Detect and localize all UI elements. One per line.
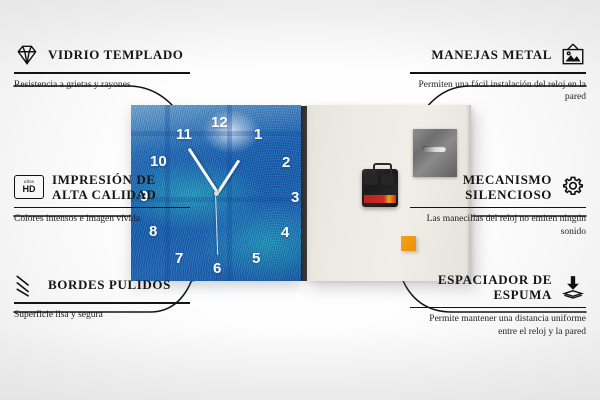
diamond-icon: [14, 42, 40, 68]
mechanism-label-strip: [364, 195, 396, 203]
feature-desc: Colores intensos e imagen vívida: [14, 213, 190, 226]
divider: [410, 207, 586, 209]
gear-icon: [560, 174, 586, 200]
feature-desc: Permiten una fácil instalación del reloj…: [410, 79, 586, 105]
clock-numeral-12: 12: [211, 115, 228, 130]
feature-title: IMPRESIÓN DE ALTA CALIDAD: [52, 172, 190, 203]
divider: [14, 72, 190, 74]
divider: [410, 72, 586, 74]
metal-hanger-plate: [413, 129, 457, 177]
feature-mecanismo-silencioso: MECANISMO SILENCIOSO Las manecillas del …: [410, 172, 586, 239]
clock-numeral-2: 2: [282, 155, 290, 170]
divider: [410, 307, 586, 309]
feature-manejas-metal: MANEJAS METAL Permiten una fácil instala…: [410, 42, 586, 104]
clock-numeral-10: 10: [150, 154, 167, 169]
divider: [14, 207, 190, 209]
clock-numeral-6: 6: [213, 261, 221, 276]
divider: [14, 302, 190, 304]
mechanism-loop: [373, 163, 392, 174]
clock-numeral-7: 7: [175, 251, 183, 266]
feature-desc: Resistencia a grietas y rayones: [14, 79, 190, 92]
feature-title: BORDES PULIDOS: [48, 277, 190, 292]
ultra-hd-icon: ultra HD: [14, 175, 44, 199]
diagonal-lines-icon: [14, 272, 40, 298]
ultra-hd-icon-large-label: HD: [23, 185, 36, 194]
clock-center-pin: [214, 191, 219, 196]
mechanism-detail-right: [381, 174, 394, 185]
feature-desc: Permite mantener una distancia uniforme …: [410, 313, 586, 339]
clock-numeral-1: 1: [254, 127, 262, 142]
picture-frame-icon: [560, 42, 586, 68]
clock-numeral-11: 11: [176, 127, 192, 142]
infographic-canvas: 12 1 2 3 4 5 6 7 8 9 10 11: [0, 0, 600, 400]
artwork-grid-h1: [131, 131, 301, 136]
clock-numeral-8: 8: [149, 224, 157, 239]
clock-mechanism: [362, 169, 398, 207]
feature-impresion-alta-calidad: ultra HD IMPRESIÓN DE ALTA CALIDAD Color…: [14, 172, 190, 226]
feature-title: MECANISMO SILENCIOSO: [410, 172, 552, 203]
clock-numeral-4: 4: [281, 225, 289, 240]
feature-title: MANEJAS METAL: [410, 47, 552, 62]
feature-bordes-pulidos: BORDES PULIDOS Superficie lisa y segura: [14, 272, 190, 321]
mechanism-detail-left: [365, 174, 378, 185]
clock-numeral-3: 3: [291, 190, 299, 205]
feature-desc: Superficie lisa y segura: [14, 309, 190, 322]
feature-desc: Las manecillas del reloj no emiten ningú…: [410, 213, 586, 239]
arrow-down-layers-icon: [560, 274, 586, 300]
feature-title: ESPACIADOR DE ESPUMA: [410, 272, 552, 303]
feature-espaciador-espuma: ESPACIADOR DE ESPUMA Permite mantener un…: [410, 272, 586, 339]
feature-title: VIDRIO TEMPLADO: [48, 47, 190, 62]
clock-numeral-5: 5: [252, 251, 260, 266]
feature-vidrio-templado: VIDRIO TEMPLADO Resistencia a grietas y …: [14, 42, 190, 91]
hanger-slot: [422, 146, 446, 152]
